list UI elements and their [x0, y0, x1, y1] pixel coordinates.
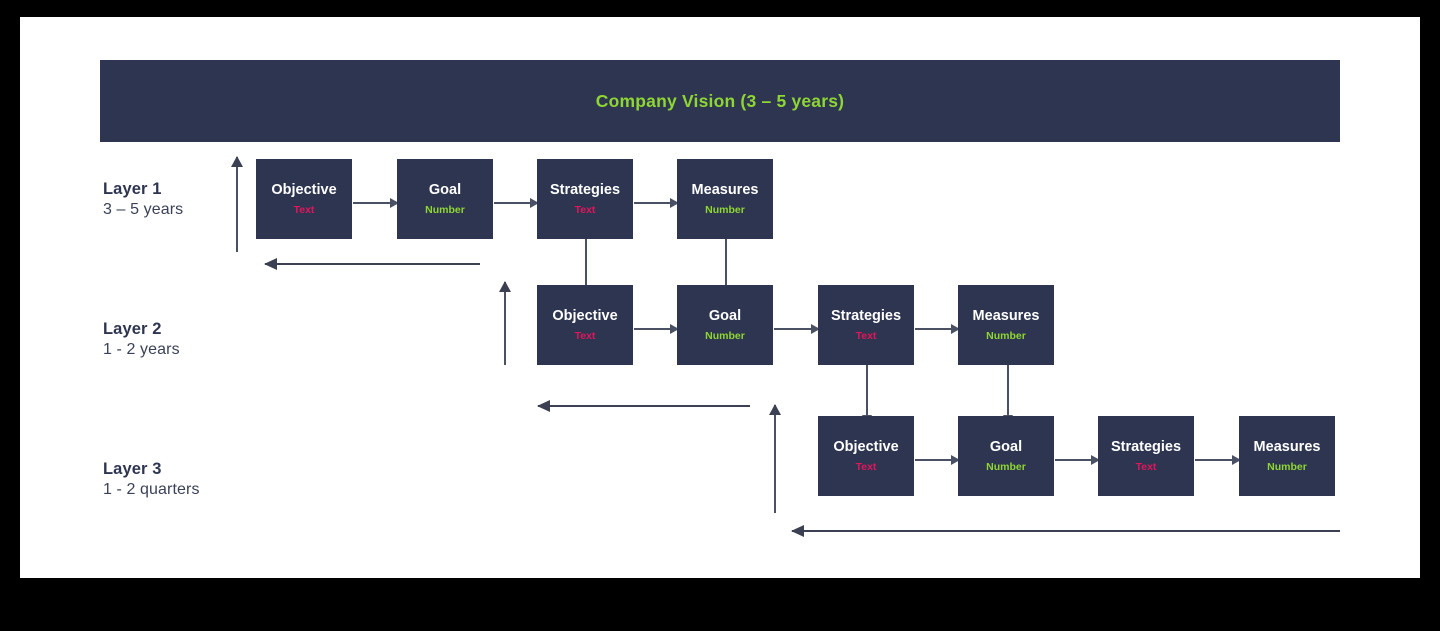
layer-2-node-goal-subtitle: Number: [705, 331, 745, 342]
layer-3-node-measures-title: Measures: [1254, 440, 1321, 456]
layer-3-node-goal-subtitle: Number: [986, 462, 1026, 473]
layer-3-node-goal-title: Goal: [990, 440, 1022, 456]
company-vision-title: Company Vision (3 – 5 years): [596, 91, 844, 112]
layer-2-up-arrow: [504, 282, 506, 365]
layer-2-arrow-strategies-to-measures: [915, 328, 959, 330]
layer-3-node-measures-subtitle: Number: [1267, 462, 1307, 473]
layer-1-timeframe: 3 – 5 years: [103, 200, 183, 220]
layer-2-timeframe: 1 - 2 years: [103, 340, 180, 360]
layer-3-arrow-goal-to-strategies: [1055, 459, 1099, 461]
layer-2-node-strategies-title: Strategies: [831, 309, 901, 325]
layer-2-node-objective[interactable]: Objective Text: [537, 285, 633, 365]
layer-3-node-objective-subtitle: Text: [856, 462, 877, 473]
layer-2-arrow-goal-to-strategies: [774, 328, 819, 330]
layer-3-arrow-objective-to-goal: [915, 459, 959, 461]
layer-1-node-goal-title: Goal: [429, 183, 461, 199]
layer-1-node-measures-subtitle: Number: [705, 205, 745, 216]
layer-2-name: Layer 2: [103, 319, 180, 340]
layer-2-node-measures-subtitle: Number: [986, 331, 1026, 342]
layer-1-name: Layer 1: [103, 179, 183, 200]
layer-1-node-goal-subtitle: Number: [425, 205, 465, 216]
layer-label-2: Layer 2 1 - 2 years: [103, 319, 180, 361]
layer-label-1: Layer 1 3 – 5 years: [103, 179, 183, 221]
layer-1-up-arrow: [236, 157, 238, 252]
diagram-canvas: Company Vision (3 – 5 years) Layer 1 3 –…: [20, 17, 1420, 578]
layer-3-node-strategies-subtitle: Text: [1136, 462, 1157, 473]
layer-1-node-objective[interactable]: Objective Text: [256, 159, 352, 239]
layer-2-node-goal[interactable]: Goal Number: [677, 285, 773, 365]
layer-3-node-strategies[interactable]: Strategies Text: [1098, 416, 1194, 496]
layer-1-arrow-goal-to-strategies: [494, 202, 538, 204]
company-vision-banner: Company Vision (3 – 5 years): [100, 60, 1340, 142]
layer-3-node-goal[interactable]: Goal Number: [958, 416, 1054, 496]
layer-2-node-measures[interactable]: Measures Number: [958, 285, 1054, 365]
layer-2-node-objective-subtitle: Text: [575, 331, 596, 342]
layer-3-node-strategies-title: Strategies: [1111, 440, 1181, 456]
layer-2-node-strategies[interactable]: Strategies Text: [818, 285, 914, 365]
layer-1-node-measures[interactable]: Measures Number: [677, 159, 773, 239]
layer-1-node-objective-title: Objective: [271, 183, 336, 199]
layer-2-node-objective-title: Objective: [552, 309, 617, 325]
layer-3-node-objective[interactable]: Objective Text: [818, 416, 914, 496]
layer-3-node-objective-title: Objective: [833, 440, 898, 456]
arrow-layer2-measures-to-layer3-goal: [1007, 365, 1009, 423]
layer-label-3: Layer 3 1 - 2 quarters: [103, 459, 200, 501]
layer-2-feedback-arrow: [538, 405, 750, 407]
layer-2-node-measures-title: Measures: [973, 309, 1040, 325]
layer-3-up-arrow: [774, 405, 776, 513]
layer-3-feedback-arrow: [792, 530, 1340, 532]
layer-3-node-measures[interactable]: Measures Number: [1239, 416, 1335, 496]
arrow-layer2-strategies-to-layer3-objective: [866, 365, 868, 423]
layer-2-arrow-objective-to-goal: [634, 328, 678, 330]
layer-1-node-strategies[interactable]: Strategies Text: [537, 159, 633, 239]
layer-1-node-measures-title: Measures: [692, 183, 759, 199]
layer-1-feedback-arrow: [265, 263, 480, 265]
layer-2-node-goal-title: Goal: [709, 309, 741, 325]
layer-2-node-strategies-subtitle: Text: [856, 331, 877, 342]
layer-1-node-strategies-subtitle: Text: [575, 205, 596, 216]
layer-1-node-strategies-title: Strategies: [550, 183, 620, 199]
layer-3-name: Layer 3: [103, 459, 200, 480]
layer-3-arrow-strategies-to-measures: [1195, 459, 1240, 461]
layer-1-arrow-strategies-to-measures: [634, 202, 678, 204]
layer-3-timeframe: 1 - 2 quarters: [103, 480, 200, 500]
layer-1-arrow-objective-to-goal: [353, 202, 398, 204]
layer-1-node-goal[interactable]: Goal Number: [397, 159, 493, 239]
layer-1-node-objective-subtitle: Text: [294, 205, 315, 216]
